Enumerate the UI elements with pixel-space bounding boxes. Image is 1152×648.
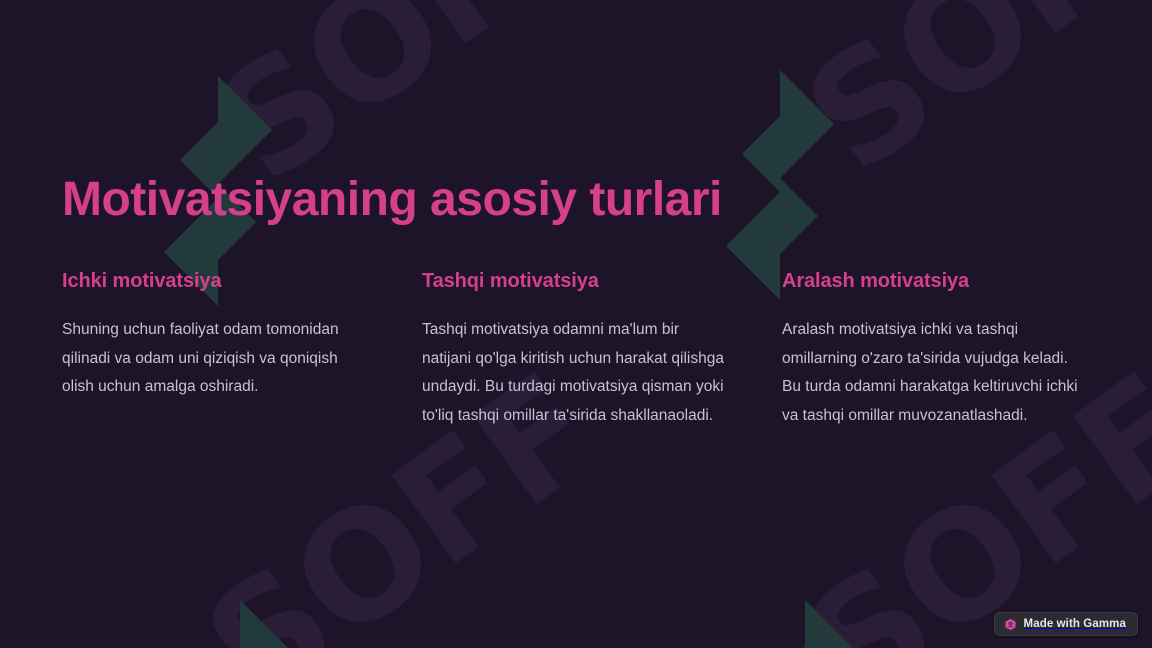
column-heading: Ichki motivatsiya (62, 268, 370, 294)
soff-chevron-logo-icon (170, 600, 294, 648)
column-tashqi-motivatsiya: Tashqi motivatsiya Tashqi motivatsiya od… (422, 268, 730, 430)
gamma-logo-icon (1004, 618, 1017, 631)
column-group: Ichki motivatsiya Shuning uchun faoliyat… (62, 268, 1090, 430)
watermark-text: SOFF (776, 0, 1152, 206)
column-aralash-motivatsiya: Aralash motivatsiya Aralash motivatsiya … (782, 268, 1090, 430)
presentation-slide: SOFF SOFF SOFF SOFF Motivatsiyanin (0, 0, 1152, 648)
made-with-gamma-label: Made with Gamma (1024, 618, 1126, 630)
made-with-gamma-badge[interactable]: Made with Gamma (994, 612, 1138, 636)
soff-chevron-logo-icon (735, 600, 859, 648)
page-title: Motivatsiyaning asosiy turlari (62, 172, 722, 227)
column-body-text: Tashqi motivatsiya odamni ma'lum bir nat… (422, 316, 730, 430)
soff-chevron-logo-icon (710, 70, 834, 300)
column-body-text: Aralash motivatsiya ichki va tashqi omil… (782, 316, 1090, 430)
column-body-text: Shuning uchun faoliyat odam tomonidan qi… (62, 316, 370, 402)
column-heading: Aralash motivatsiya (782, 268, 1090, 294)
column-heading: Tashqi motivatsiya (422, 268, 730, 294)
column-ichki-motivatsiya: Ichki motivatsiya Shuning uchun faoliyat… (62, 268, 370, 430)
